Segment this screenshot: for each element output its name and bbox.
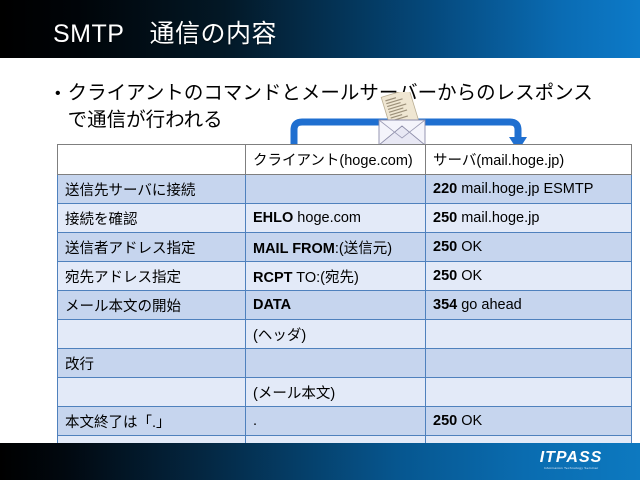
cell-server: 250 OK bbox=[426, 233, 632, 262]
itpass-logo: ITPASS Information Technology Seminar bbox=[516, 449, 626, 471]
bullet-marker-icon: • bbox=[55, 80, 61, 107]
page-title: SMTP 通信の内容 bbox=[53, 14, 277, 50]
client-command: MAIL FROM bbox=[253, 241, 335, 257]
cell-server: 220 mail.hoge.jp ESMTP bbox=[426, 175, 632, 204]
cell-server bbox=[426, 378, 632, 407]
server-code: 250 bbox=[433, 239, 457, 255]
cell-client: EHLO hoge.com bbox=[246, 204, 426, 233]
client-command: DATA bbox=[253, 297, 291, 313]
column-header-server: サーバ(mail.hoge.jp) bbox=[426, 145, 632, 175]
table-body: 送信先サーバに接続 220 mail.hoge.jp ESMTP 接続を確認 E… bbox=[58, 175, 632, 465]
cell-step bbox=[58, 320, 246, 349]
cell-client: (メール本文) bbox=[246, 378, 426, 407]
cell-step: 改行 bbox=[58, 349, 246, 378]
cell-client: MAIL FROM:(送信元) bbox=[246, 233, 426, 262]
table-row: 改行 bbox=[58, 349, 632, 378]
server-code: 250 bbox=[433, 210, 457, 226]
client-argument: TO:(宛先) bbox=[292, 270, 358, 286]
server-code: 220 bbox=[433, 181, 457, 197]
itpass-logo-subtext: Information Technology Seminar bbox=[516, 466, 626, 471]
cell-step: 本文終了は「.」 bbox=[58, 407, 246, 436]
slide-title-bar: SMTP 通信の内容 bbox=[0, 0, 640, 58]
client-argument: hoge.com bbox=[293, 210, 361, 226]
cell-client bbox=[246, 175, 426, 204]
table-row: (ヘッダ) bbox=[58, 320, 632, 349]
cell-server bbox=[426, 320, 632, 349]
envelope-clipart-icon bbox=[371, 92, 433, 148]
table-header-row: クライアント(hoge.com) サーバ(mail.hoge.jp) bbox=[58, 145, 632, 175]
server-message: OK bbox=[457, 239, 482, 255]
cell-server bbox=[426, 349, 632, 378]
cell-client bbox=[246, 349, 426, 378]
client-argument: . bbox=[253, 413, 257, 429]
client-argument: :(送信元) bbox=[335, 241, 392, 257]
client-command: RCPT bbox=[253, 270, 292, 286]
cell-step: 宛先アドレス指定 bbox=[58, 262, 246, 291]
cell-client: . bbox=[246, 407, 426, 436]
table-row: 送信先サーバに接続 220 mail.hoge.jp ESMTP bbox=[58, 175, 632, 204]
cell-client: (ヘッダ) bbox=[246, 320, 426, 349]
server-message: OK bbox=[457, 268, 482, 284]
client-command: EHLO bbox=[253, 210, 293, 226]
server-message: go ahead bbox=[457, 297, 522, 313]
server-code: 354 bbox=[433, 297, 457, 313]
cell-step: 送信先サーバに接続 bbox=[58, 175, 246, 204]
cell-client: DATA bbox=[246, 291, 426, 320]
cell-server: 250 OK bbox=[426, 407, 632, 436]
table-row: 接続を確認 EHLO hoge.com 250 mail.hoge.jp bbox=[58, 204, 632, 233]
client-argument: (ヘッダ) bbox=[253, 328, 306, 344]
server-code: 250 bbox=[433, 268, 457, 284]
cell-step bbox=[58, 378, 246, 407]
cell-server: 250 mail.hoge.jp bbox=[426, 204, 632, 233]
smtp-dialog-table: クライアント(hoge.com) サーバ(mail.hoge.jp) 送信先サー… bbox=[57, 144, 632, 465]
server-code: 250 bbox=[433, 413, 457, 429]
server-message: OK bbox=[457, 413, 482, 429]
table-row: 宛先アドレス指定 RCPT TO:(宛先) 250 OK bbox=[58, 262, 632, 291]
column-header-client: クライアント(hoge.com) bbox=[246, 145, 426, 175]
server-message: mail.hoge.jp bbox=[457, 210, 539, 226]
cell-server: 354 go ahead bbox=[426, 291, 632, 320]
server-message: mail.hoge.jp ESMTP bbox=[457, 181, 593, 197]
cell-client: RCPT TO:(宛先) bbox=[246, 262, 426, 291]
column-header-step bbox=[58, 145, 246, 175]
table-row: 本文終了は「.」 . 250 OK bbox=[58, 407, 632, 436]
table-row: 送信者アドレス指定 MAIL FROM:(送信元) 250 OK bbox=[58, 233, 632, 262]
cell-server: 250 OK bbox=[426, 262, 632, 291]
table-row: メール本文の開始 DATA 354 go ahead bbox=[58, 291, 632, 320]
cell-step: メール本文の開始 bbox=[58, 291, 246, 320]
cell-step: 接続を確認 bbox=[58, 204, 246, 233]
cell-step: 送信者アドレス指定 bbox=[58, 233, 246, 262]
itpass-logo-text: ITPASS bbox=[516, 449, 626, 466]
table-row: (メール本文) bbox=[58, 378, 632, 407]
client-argument: (メール本文) bbox=[253, 386, 335, 402]
